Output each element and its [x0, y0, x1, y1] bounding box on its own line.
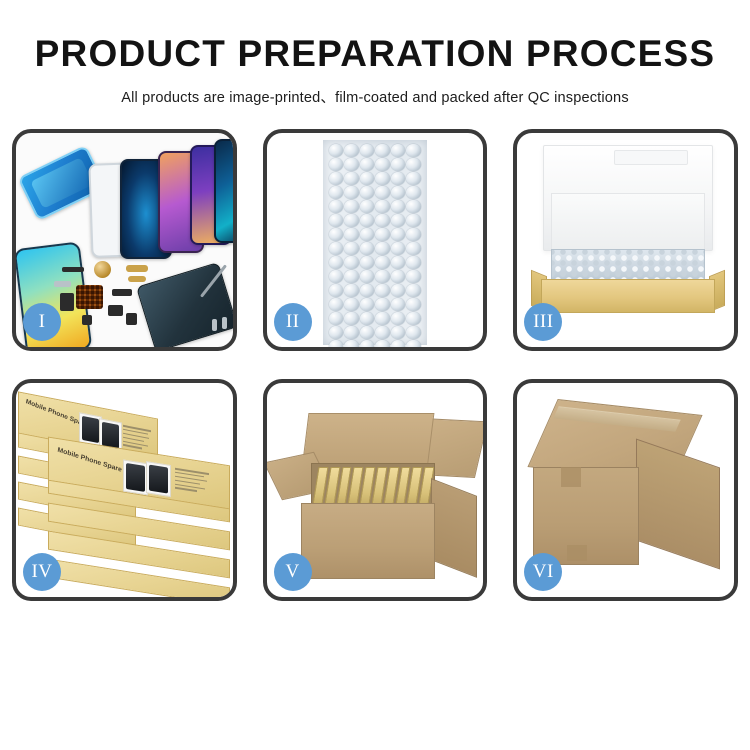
- bubble: [391, 200, 406, 213]
- bubble: [360, 340, 375, 347]
- bubble: [360, 200, 375, 213]
- mesh-chip-component: [76, 285, 103, 309]
- step-badge-6: VI: [524, 553, 562, 591]
- page-subtitle: All products are image-printed、film-coat…: [0, 86, 750, 107]
- bubble: [406, 158, 421, 171]
- bubble: [375, 270, 390, 283]
- carton-flap-seam-top: [561, 467, 581, 487]
- bubble: [406, 284, 421, 297]
- bubble: [375, 186, 390, 199]
- bubble: [344, 214, 359, 227]
- carton-side-face: [636, 438, 720, 569]
- button-component: [82, 315, 92, 325]
- bubble: [391, 214, 406, 227]
- bubble-grid: [329, 144, 421, 343]
- bubble: [406, 172, 421, 185]
- bubble: [375, 214, 390, 227]
- bubble: [344, 326, 359, 339]
- bubble: [344, 270, 359, 283]
- screw-2: [222, 317, 227, 329]
- bubble: [329, 214, 344, 227]
- carton-front-face: [301, 503, 435, 579]
- header: PRODUCT PREPARATION PROCESS All products…: [0, 0, 750, 107]
- phone-display-teal: [214, 139, 233, 243]
- step-badge-2: II: [274, 303, 312, 341]
- bubble: [360, 214, 375, 227]
- bubble: [406, 340, 421, 347]
- bubble: [406, 256, 421, 269]
- bubble: [391, 298, 406, 311]
- bubble: [391, 256, 406, 269]
- bubble: [406, 214, 421, 227]
- flex-cable-2: [128, 276, 146, 282]
- lid-tab: [614, 150, 688, 165]
- bubble: [329, 228, 344, 241]
- process-step-1: I: [12, 129, 237, 351]
- bubble: [375, 158, 390, 171]
- step-badge-3: III: [524, 303, 562, 341]
- process-step-3: III: [513, 129, 738, 351]
- bubble: [406, 228, 421, 241]
- bubble: [329, 200, 344, 213]
- bubble: [360, 158, 375, 171]
- bubble: [360, 312, 375, 325]
- bubble: [391, 228, 406, 241]
- bubble: [344, 200, 359, 213]
- bubble: [406, 312, 421, 325]
- bubble: [344, 186, 359, 199]
- bubble: [391, 172, 406, 185]
- bubble: [329, 186, 344, 199]
- bubble: [360, 242, 375, 255]
- earpiece-component: [62, 267, 84, 272]
- bubble: [375, 200, 390, 213]
- bubble: [375, 298, 390, 311]
- vibration-motor: [108, 305, 123, 316]
- bubble: [360, 228, 375, 241]
- bubble: [360, 256, 375, 269]
- bubble: [329, 270, 344, 283]
- box-spec-lines-2: [175, 467, 209, 496]
- bubble: [329, 242, 344, 255]
- metal-bracket: [54, 281, 71, 287]
- bubble: [360, 172, 375, 185]
- bubble: [344, 256, 359, 269]
- process-step-2: II: [263, 129, 488, 351]
- bubble: [406, 326, 421, 339]
- bubble: [375, 326, 390, 339]
- bubble: [375, 172, 390, 185]
- camera-module: [60, 293, 74, 311]
- step-badge-1: I: [23, 303, 61, 341]
- bubble: [329, 144, 344, 157]
- bubble: [391, 186, 406, 199]
- bubble: [360, 144, 375, 157]
- bubble: [391, 158, 406, 171]
- bubble: [360, 270, 375, 283]
- sim-tray: [126, 313, 137, 325]
- bubble: [391, 144, 406, 157]
- bubble: [329, 284, 344, 297]
- step-badge-5: V: [274, 553, 312, 591]
- bubble: [344, 284, 359, 297]
- bubble: [344, 242, 359, 255]
- bubble: [329, 298, 344, 311]
- bubble: [406, 186, 421, 199]
- flex-cable-1: [126, 265, 148, 272]
- bubble: [391, 340, 406, 347]
- carton-right-side: [431, 478, 477, 578]
- bubble: [375, 340, 390, 347]
- bubble: [375, 284, 390, 297]
- bubble: [344, 144, 359, 157]
- bubble: [375, 256, 390, 269]
- step-badge-4: IV: [23, 553, 61, 591]
- bubble: [344, 172, 359, 185]
- process-step-6: VI: [513, 379, 738, 601]
- bubble: [375, 144, 390, 157]
- connector-component: [112, 289, 132, 296]
- bubble: [329, 326, 344, 339]
- bubble: [391, 326, 406, 339]
- carton-flap-seam-bottom: [567, 545, 587, 561]
- box-phone-image-4: [146, 461, 171, 497]
- bubble: [329, 256, 344, 269]
- bubble: [406, 242, 421, 255]
- bubble: [344, 340, 359, 347]
- bubble: [375, 312, 390, 325]
- bubble: [344, 298, 359, 311]
- infographic-page: PRODUCT PREPARATION PROCESS All products…: [0, 0, 750, 750]
- bubble: [391, 312, 406, 325]
- bubble: [406, 298, 421, 311]
- bubble: [344, 158, 359, 171]
- bubble: [360, 186, 375, 199]
- bubble: [360, 326, 375, 339]
- foam-padding: [551, 193, 705, 253]
- bubble: [391, 242, 406, 255]
- bubble: [329, 172, 344, 185]
- carton-flap-back: [301, 413, 434, 469]
- bubble: [344, 228, 359, 241]
- bubble: [329, 340, 344, 347]
- bubble: [406, 144, 421, 157]
- bubble: [375, 242, 390, 255]
- bubble: [406, 270, 421, 283]
- bubble: [329, 312, 344, 325]
- screw-1: [212, 319, 217, 331]
- process-step-5: V: [263, 379, 488, 601]
- bubble: [391, 270, 406, 283]
- process-grid: I II III: [12, 129, 738, 601]
- box-phone-image-3: [123, 459, 148, 495]
- bubble: [360, 284, 375, 297]
- process-step-4: Mobile Phone Spare Parts Mobile Phone Sp…: [12, 379, 237, 601]
- bubble: [329, 158, 344, 171]
- page-title: PRODUCT PREPARATION PROCESS: [0, 34, 750, 75]
- bubble: [375, 228, 390, 241]
- speaker-component: [94, 261, 111, 278]
- bubble-wrap-sleeve: [323, 140, 427, 345]
- inner-box-front: [541, 279, 715, 313]
- bubble: [406, 200, 421, 213]
- bubble: [391, 284, 406, 297]
- bubble: [344, 312, 359, 325]
- bubble: [360, 298, 375, 311]
